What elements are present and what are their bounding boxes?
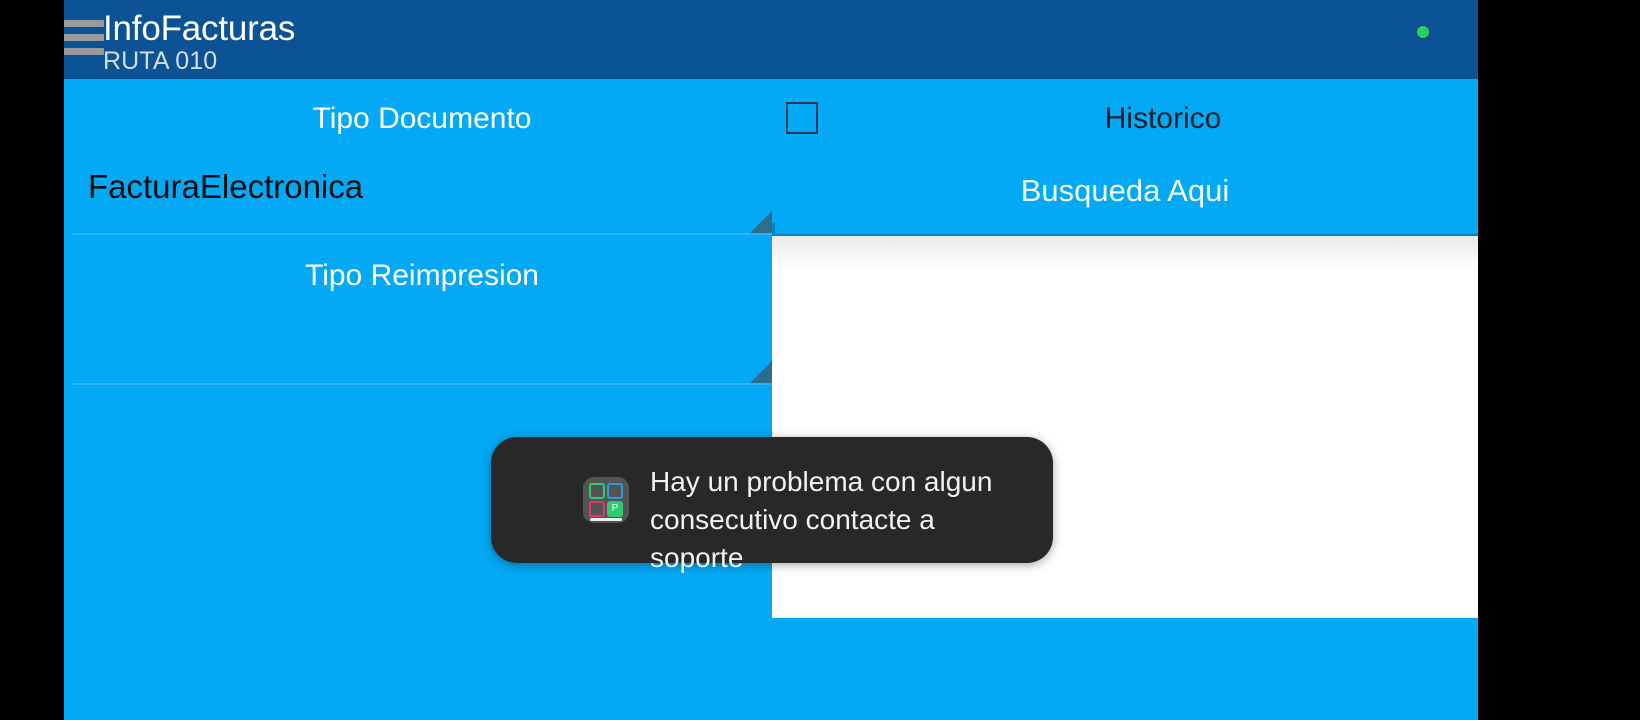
app-icon: P bbox=[583, 477, 629, 523]
app-icon-square-blue bbox=[607, 483, 623, 499]
hamburger-bar-3 bbox=[64, 48, 104, 55]
device-screen: InfoFacturas RUTA 010 Tipo Documento His… bbox=[0, 0, 1640, 720]
app-subtitle: RUTA 010 bbox=[103, 48, 295, 75]
search-placeholder: Busqueda Aqui bbox=[772, 169, 1478, 213]
tipo-documento-label: Tipo Documento bbox=[72, 100, 772, 138]
historico-label: Historico bbox=[858, 95, 1468, 143]
tipo-reimpresion-underline bbox=[72, 383, 772, 385]
android-navigation-bar bbox=[1478, 0, 1640, 720]
chevron-down-icon[interactable] bbox=[750, 211, 772, 233]
toast-message: Hay un problema con algun consecutivo co… bbox=[650, 463, 1030, 577]
tipo-reimpresion-spinner[interactable] bbox=[72, 305, 772, 385]
letterbox-left bbox=[0, 0, 64, 720]
hamburger-bar-1 bbox=[64, 20, 104, 27]
app-icon-underline bbox=[590, 518, 622, 521]
tipo-documento-underline bbox=[72, 233, 772, 235]
online-status-dot bbox=[1417, 26, 1429, 38]
tipo-documento-spinner[interactable]: FacturaElectronica bbox=[72, 151, 772, 235]
historico-row[interactable]: Historico bbox=[768, 95, 1468, 143]
hamburger-menu-icon[interactable] bbox=[64, 20, 104, 60]
tipo-documento-value: FacturaElectronica bbox=[88, 165, 363, 209]
app-icon-square-letter: P bbox=[607, 501, 623, 517]
search-input[interactable]: Busqueda Aqui bbox=[772, 151, 1478, 237]
app-viewport: InfoFacturas RUTA 010 Tipo Documento His… bbox=[64, 0, 1478, 720]
app-bar: InfoFacturas RUTA 010 bbox=[64, 0, 1478, 79]
form-area: Tipo Documento Historico FacturaElectron… bbox=[64, 79, 1478, 720]
app-icon-square-green bbox=[589, 483, 605, 499]
hamburger-bar-2 bbox=[64, 34, 104, 41]
toast-notification: P Hay un problema con algun consecutivo … bbox=[491, 437, 1053, 563]
tipo-reimpresion-label: Tipo Reimpresion bbox=[72, 257, 772, 295]
app-bar-titles: InfoFacturas RUTA 010 bbox=[103, 9, 295, 75]
search-left-tick bbox=[772, 223, 775, 237]
app-title: InfoFacturas bbox=[103, 9, 295, 48]
app-icon-square-pink bbox=[589, 501, 605, 517]
chevron-down-icon[interactable] bbox=[750, 361, 772, 383]
historico-checkbox[interactable] bbox=[786, 102, 818, 134]
